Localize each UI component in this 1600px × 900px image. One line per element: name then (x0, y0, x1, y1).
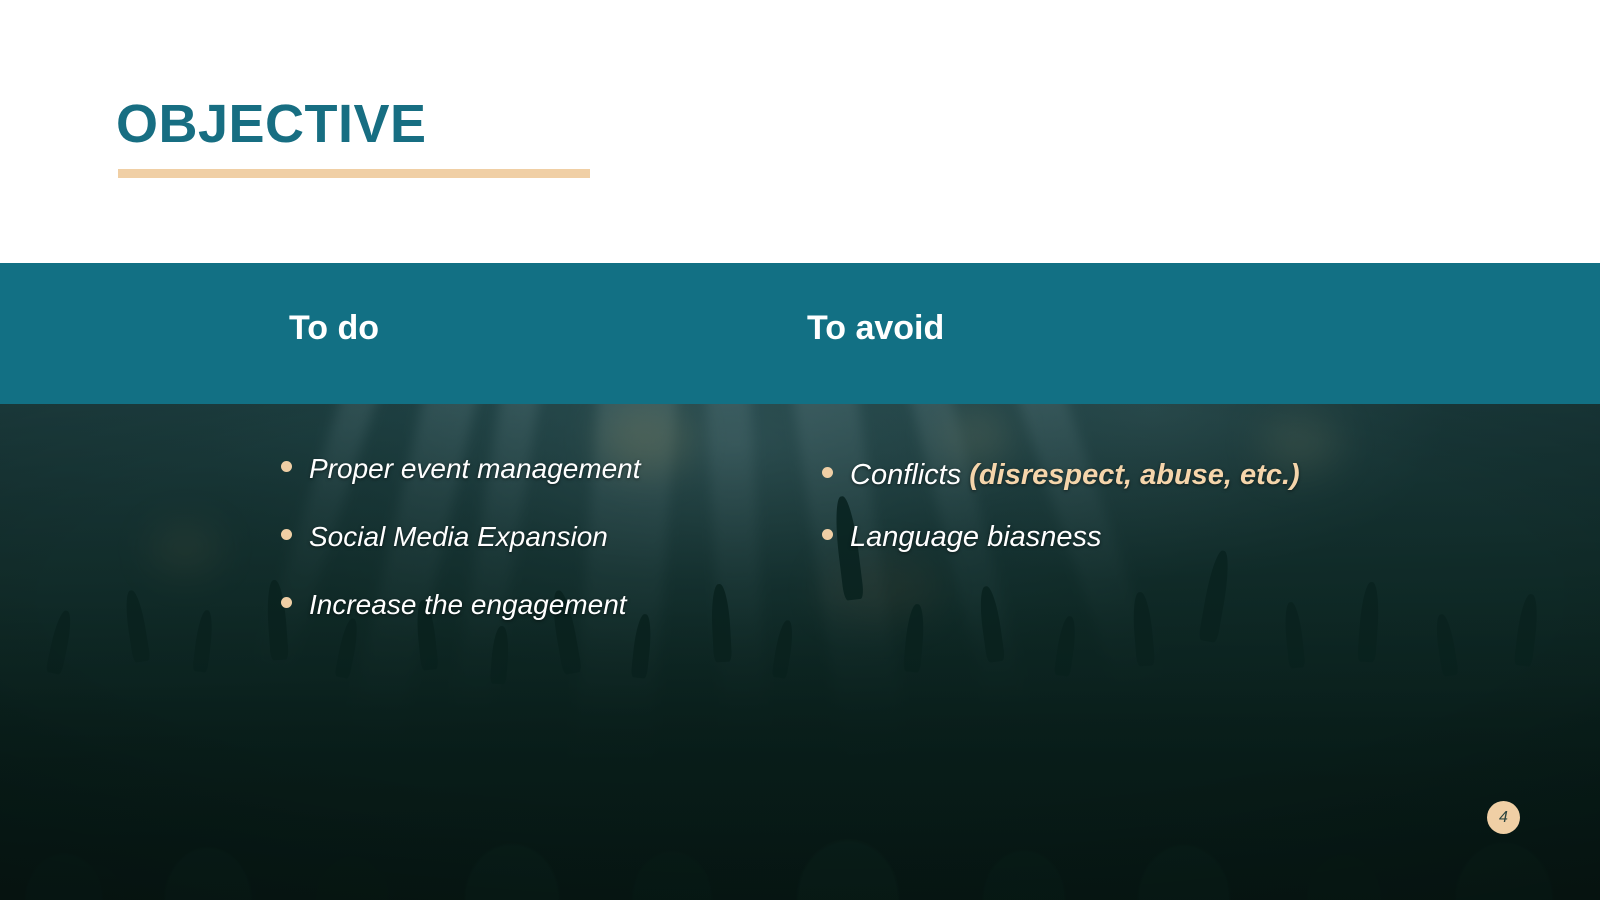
list-item: Language biasness (822, 519, 1102, 555)
column-heading-to-avoid: To avoid (807, 308, 944, 349)
list-item-label: Increase the engagement (309, 587, 627, 622)
column-heading-band: To do To avoid (0, 263, 1600, 404)
page-title: OBJECTIVE (116, 96, 427, 153)
background-photo (0, 404, 1600, 900)
list-item-label: Language biasness (850, 519, 1102, 555)
list-item: Conflicts (disrespect, abuse, etc.) (822, 457, 1300, 493)
list-item: Proper event management (281, 451, 641, 486)
page-number-badge: 4 (1487, 801, 1520, 834)
list-item-text: Conflicts (850, 459, 969, 491)
bullet-dot-icon (281, 597, 292, 608)
title-underline-bar (118, 169, 590, 178)
column-heading-to-do: To do (289, 308, 379, 349)
list-item-label: Conflicts (disrespect, abuse, etc.) (850, 457, 1300, 493)
bullet-dot-icon (281, 529, 292, 540)
list-item-accent-text: (disrespect, abuse, etc.) (969, 459, 1299, 491)
bullet-dot-icon (822, 529, 833, 540)
list-item-label: Social Media Expansion (309, 519, 608, 554)
list-item: Social Media Expansion (281, 519, 608, 554)
slide-header: OBJECTIVE (0, 0, 1600, 263)
bullet-dot-icon (822, 467, 833, 478)
photo-base-layer (0, 404, 1600, 900)
bullet-dot-icon (281, 461, 292, 472)
slide: OBJECTIVE To do To avoid (0, 0, 1600, 900)
list-item: Increase the engagement (281, 587, 627, 622)
list-item-label: Proper event management (309, 451, 641, 486)
